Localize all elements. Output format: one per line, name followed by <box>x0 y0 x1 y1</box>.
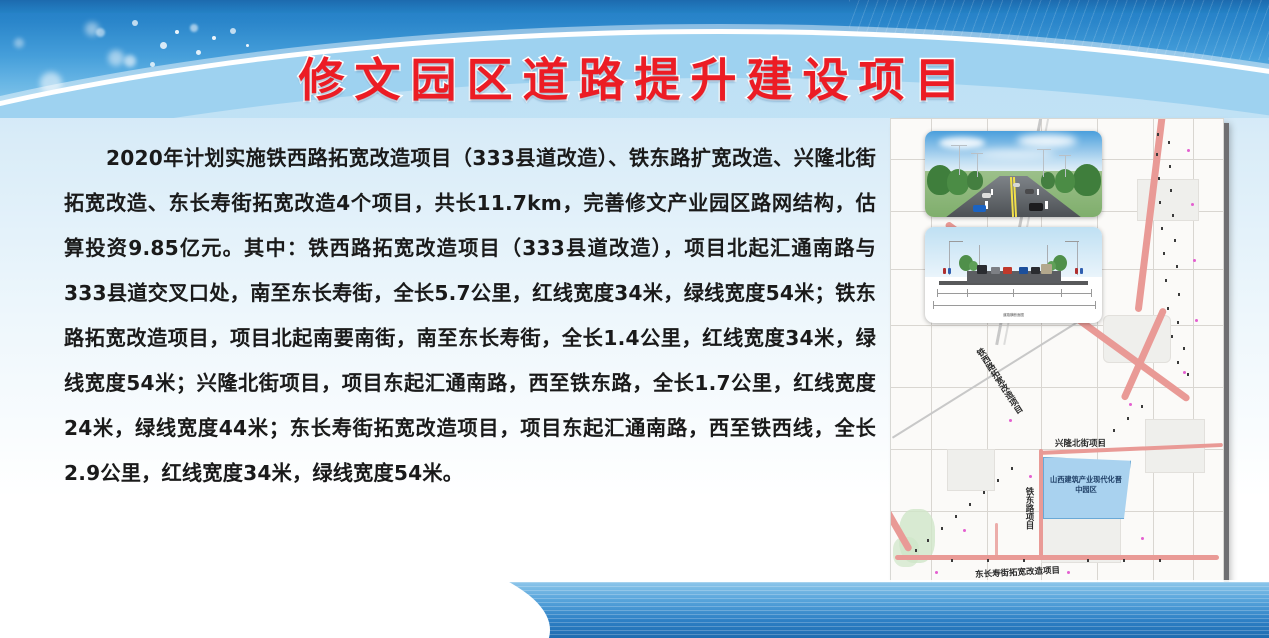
photo-lane-dash <box>1045 201 1048 209</box>
cross-section-pedestrian <box>1075 268 1078 274</box>
cross-section-lamp-arm <box>1065 241 1079 242</box>
cross-section-vehicle <box>1041 264 1052 274</box>
cross-section-pedestrian <box>948 268 951 274</box>
photo-street-lamp <box>959 145 960 175</box>
cross-section-lamp-arm <box>949 241 963 242</box>
cross-section-pedestrian <box>1080 268 1083 274</box>
cross-section-pedestrian <box>943 268 946 274</box>
photo-lane-dash <box>991 189 993 195</box>
road-rendering-photo <box>925 131 1102 217</box>
cross-section-dimension-tick <box>1013 289 1014 297</box>
header-banner: 修文园区道路提升建设项目 <box>0 0 1269 118</box>
photo-lamp-arm <box>1037 149 1051 150</box>
body-paragraph: 2020年计划实施铁西路拓宽改造项目（333县道改造）、铁东路扩宽改造、兴隆北街… <box>64 136 876 496</box>
cross-section-caption: 道路横断面图 <box>925 313 1102 318</box>
photo-vehicle <box>1029 203 1043 211</box>
cross-section-dimension-tick <box>1091 289 1092 297</box>
photo-tree <box>947 169 969 195</box>
cross-section-vehicle <box>1003 267 1012 274</box>
cross-section-dimension-tick <box>1061 289 1062 297</box>
map-grid-line <box>891 325 1223 326</box>
road-cross-section-diagram: 道路横断面图 <box>925 227 1102 323</box>
cross-section-vehicle <box>1031 267 1040 274</box>
photo-lamp-arm <box>1059 155 1071 156</box>
photo-lane-dash <box>1037 189 1039 195</box>
map-road-branch <box>995 523 998 559</box>
photo-vehicle <box>1025 189 1034 194</box>
cross-section-dimension-tick <box>933 301 934 309</box>
photo-lamp-arm <box>971 153 983 154</box>
cross-section-vehicle <box>1019 267 1028 274</box>
cross-section-dimension-tick <box>937 289 938 297</box>
photo-street-lamp <box>1065 155 1066 177</box>
footer-banner <box>0 564 1269 638</box>
cross-section-vehicle <box>977 265 987 274</box>
map-zone-label: 山西建筑产业现代化晋中园区 <box>1047 475 1125 495</box>
cross-section-dimension-tick <box>967 289 968 297</box>
map-parcel <box>947 449 995 491</box>
page-title: 修文园区道路提升建设项目 <box>0 44 1269 110</box>
photo-street-lamp <box>1043 149 1044 177</box>
cross-section-dimension-line <box>933 305 1095 306</box>
slide-root: 修文园区道路提升建设项目 2020年计划实施铁西路拓宽改造项目（333县道改造）… <box>0 0 1269 638</box>
map-label-tiedong: 铁东路项目 <box>1023 487 1035 530</box>
photo-lamp-arm <box>951 145 967 146</box>
photo-vehicle <box>1013 183 1020 187</box>
photo-vehicle <box>982 193 991 198</box>
photo-tree <box>1073 164 1101 196</box>
map-panel[interactable]: 山西建筑产业现代化晋中园区 <box>890 118 1224 588</box>
map-label-xinglong: 兴隆北街项目 <box>1055 437 1106 449</box>
photo-cloud <box>939 137 985 149</box>
cross-section-vehicle <box>991 267 1000 274</box>
photo-vehicle <box>973 205 986 212</box>
photo-tree <box>967 171 983 190</box>
map-road-dongchangshou <box>895 555 1219 560</box>
photo-street-lamp <box>977 153 978 177</box>
map-road-tiedong <box>1039 449 1043 559</box>
cross-section-dimension-tick <box>1095 301 1096 309</box>
photo-cloud <box>1017 134 1077 148</box>
footer-swoosh-white <box>0 564 550 638</box>
cross-section-dimension-line <box>937 293 1091 294</box>
